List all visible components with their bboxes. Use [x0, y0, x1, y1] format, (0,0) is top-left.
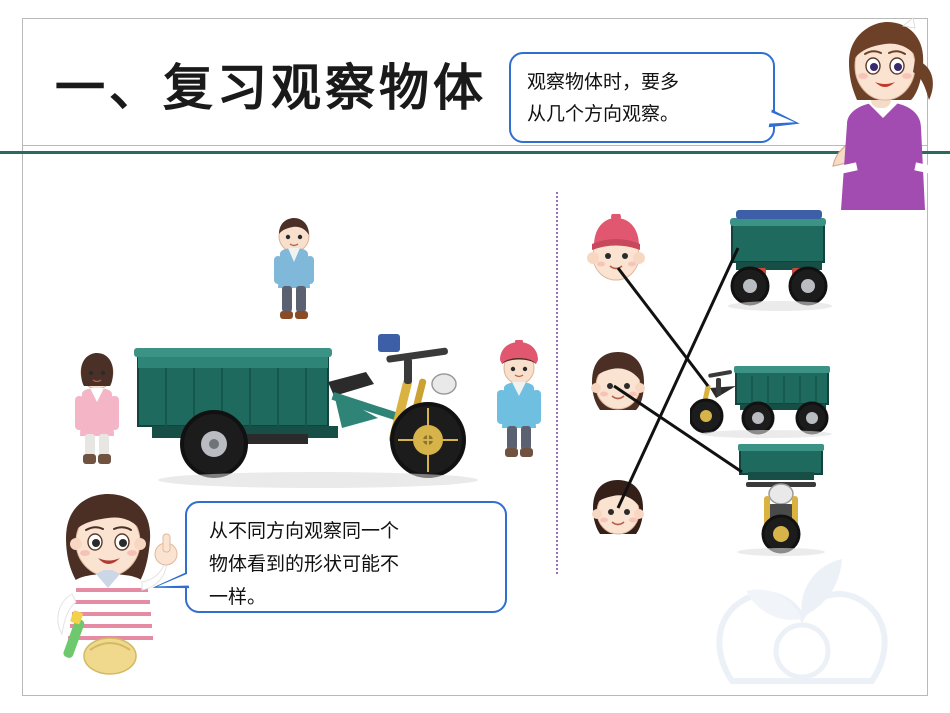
student-speech-bubble: 从不同方向观察同一个 物体看到的形状可能不 一样。	[185, 501, 507, 613]
bubble-line: 一样。	[209, 581, 495, 614]
matching-lines	[590, 190, 930, 550]
slide-root: 一、复习观察物体	[0, 0, 950, 713]
page-title: 一、复习观察物体	[55, 48, 487, 120]
bubble-line: 物体看到的形状可能不	[209, 548, 495, 581]
panel-divider	[556, 192, 558, 574]
bubble-line: 观察物体时，要多	[527, 66, 759, 98]
kid-left	[66, 352, 128, 480]
tricycle-side-view	[128, 322, 480, 490]
kid-right	[489, 340, 549, 470]
bubble-line: 从几个方向观察。	[527, 98, 759, 130]
kid-top	[262, 218, 326, 326]
teacher-speech-bubble: 观察物体时，要多 从几个方向观察。	[509, 52, 775, 143]
watermark-logo	[672, 531, 932, 691]
bubble-line: 从不同方向观察同一个	[209, 515, 495, 548]
